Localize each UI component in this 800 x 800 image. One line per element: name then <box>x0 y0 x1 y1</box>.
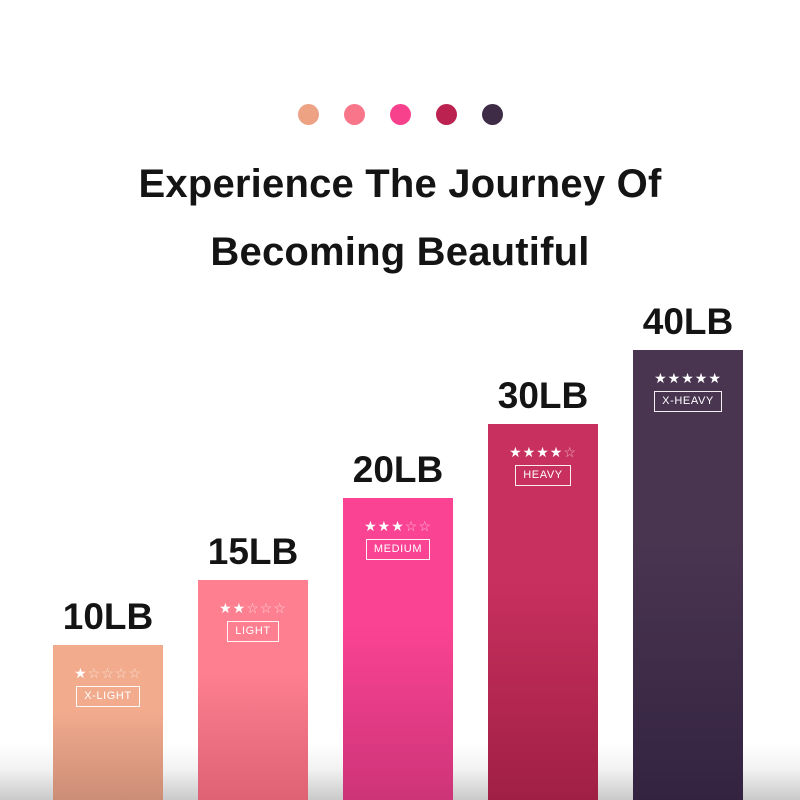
bar-value-label-30lb: 30LB <box>498 377 588 414</box>
bar-40lb[interactable] <box>633 350 743 800</box>
tier-badge-x-heavy: X-HEAVY <box>654 391 722 412</box>
star-rating-icon-30lb: ★★★★☆ <box>499 444 587 460</box>
bar-rating-block-10lb: ★☆☆☆☆X-LIGHT <box>64 665 152 707</box>
bar-value-label-20lb: 20LB <box>353 451 443 488</box>
star-rating-icon-40lb: ★★★★★ <box>644 370 732 386</box>
bar-value-label-15lb: 15LB <box>208 533 298 570</box>
tier-badge-light: LIGHT <box>227 621 278 642</box>
bar-rating-block-15lb: ★★☆☆☆LIGHT <box>209 600 297 642</box>
tier-badge-heavy: HEAVY <box>515 465 570 486</box>
bar-rating-block-20lb: ★★★☆☆MEDIUM <box>354 518 442 560</box>
bar-value-label-40lb: 40LB <box>643 303 733 340</box>
bar-rating-block-40lb: ★★★★★X-HEAVY <box>644 370 732 412</box>
star-rating-icon-15lb: ★★☆☆☆ <box>209 600 297 616</box>
bar-group-20lb: 20LB★★★☆☆MEDIUM <box>343 438 453 800</box>
bar-group-40lb: 40LB★★★★★X-HEAVY <box>633 290 743 800</box>
bar-group-15lb: 15LB★★☆☆☆LIGHT <box>198 520 308 800</box>
resistance-band-bar-chart: 10LB★☆☆☆☆X-LIGHT15LB★★☆☆☆LIGHT20LB★★★☆☆M… <box>0 0 800 800</box>
bar-rating-block-30lb: ★★★★☆HEAVY <box>499 444 587 486</box>
infographic-canvas: Experience The Journey Of Becoming Beaut… <box>0 0 800 800</box>
star-rating-icon-20lb: ★★★☆☆ <box>354 518 442 534</box>
bar-group-10lb: 10LB★☆☆☆☆X-LIGHT <box>53 585 163 800</box>
star-rating-icon-10lb: ★☆☆☆☆ <box>64 665 152 681</box>
bar-group-30lb: 30LB★★★★☆HEAVY <box>488 364 598 800</box>
tier-badge-x-light: X-LIGHT <box>76 686 140 707</box>
bar-value-label-10lb: 10LB <box>63 598 153 635</box>
tier-badge-medium: MEDIUM <box>366 539 430 560</box>
